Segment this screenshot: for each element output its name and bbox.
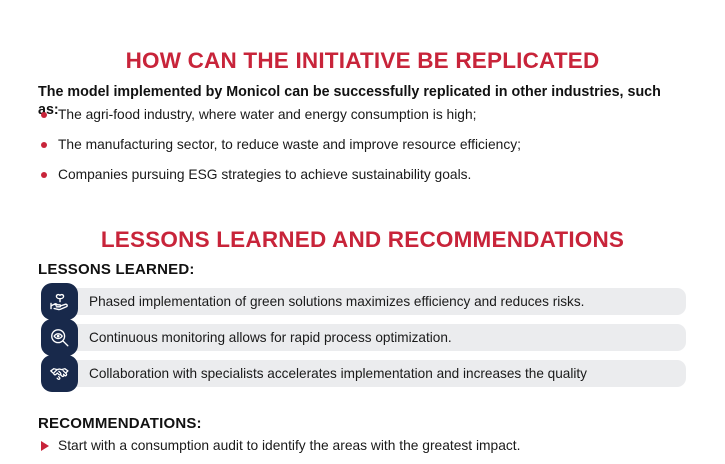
lessons-card-list: Phased implementation of green solutions… (41, 288, 686, 396)
list-item: Start with a consumption audit to identi… (38, 437, 698, 454)
list-item-label: The agri-food industry, where water and … (58, 107, 476, 122)
slide-page: HOW CAN THE INITIATIVE BE REPLICATED The… (0, 0, 725, 460)
bullet-dot-icon (41, 112, 47, 118)
lesson-card-text: Collaboration with specialists accelerat… (41, 365, 599, 382)
list-item: The agri-food industry, where water and … (38, 106, 698, 123)
page-title-replication: HOW CAN THE INITIATIVE BE REPLICATED (0, 48, 725, 74)
list-item: Companies pursuing ESG strategies to ach… (38, 166, 698, 183)
bullet-dot-icon (41, 142, 47, 148)
lesson-card[interactable]: Collaboration with specialists accelerat… (41, 360, 686, 387)
hand-holding-sprout-icon (41, 283, 78, 320)
list-item: The manufacturing sector, to reduce wast… (38, 136, 698, 153)
list-item-label: The manufacturing sector, to reduce wast… (58, 137, 521, 152)
recommendations-heading: RECOMMENDATIONS: (38, 415, 202, 432)
magnifier-eye-icon (41, 319, 78, 356)
page-title-lessons: LESSONS LEARNED AND RECOMMENDATIONS (0, 227, 725, 253)
list-item-label: Start with a consumption audit to identi… (58, 438, 520, 453)
lesson-card-text: Continuous monitoring allows for rapid p… (41, 329, 464, 346)
lessons-learned-heading: LESSONS LEARNED: (38, 261, 195, 278)
list-item-label: Companies pursuing ESG strategies to ach… (58, 167, 471, 182)
replication-bullet-list: The agri-food industry, where water and … (38, 106, 698, 196)
lesson-card-text: Phased implementation of green solutions… (41, 293, 596, 310)
lesson-card[interactable]: Continuous monitoring allows for rapid p… (41, 324, 686, 351)
handshake-icon (41, 355, 78, 392)
triangle-bullet-icon (41, 441, 49, 451)
bullet-dot-icon (41, 172, 47, 178)
lesson-card[interactable]: Phased implementation of green solutions… (41, 288, 686, 315)
